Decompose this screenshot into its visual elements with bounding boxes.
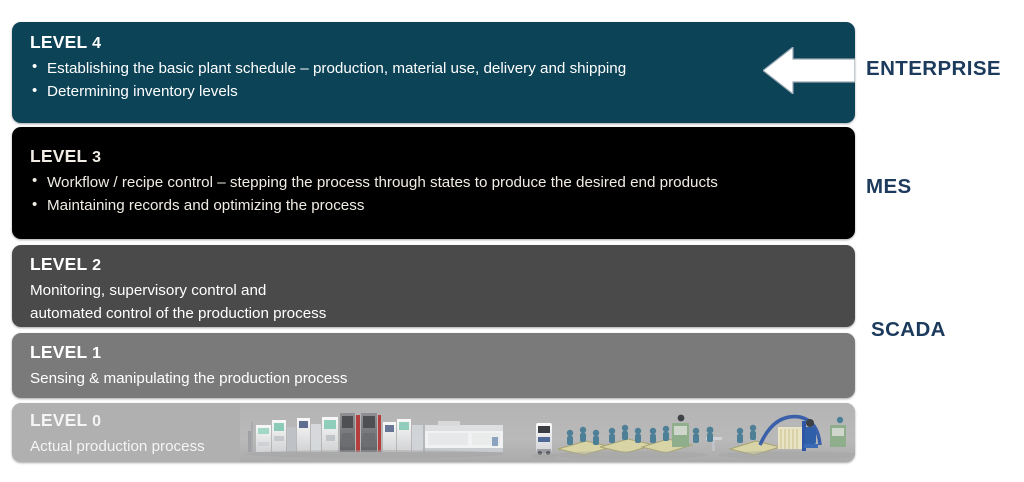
level-2-title-word: LEVEL <box>30 254 87 274</box>
level-4-title-number: 4 <box>92 35 101 52</box>
level-3-title: LEVEL 3 <box>30 147 855 167</box>
level-3-box[interactable]: LEVEL 3 Workflow / recipe control – step… <box>12 127 855 239</box>
level-4-title-word: LEVEL <box>30 32 87 52</box>
level-3-bullet-2: Maintaining records and optimizing the p… <box>30 194 855 217</box>
level-2-line-1: Monitoring, supervisory control and <box>30 279 855 302</box>
side-label-mes: MES <box>866 175 912 199</box>
level-0-title-word: LEVEL <box>30 410 87 430</box>
level-2-line-2: automated control of the production proc… <box>30 302 855 325</box>
level-1-title-number: 1 <box>92 345 101 362</box>
level-4-bullet-1: Establishing the basic plant schedule – … <box>30 57 855 80</box>
level-0-content: LEVEL 0 Actual production process <box>12 403 855 458</box>
level-2-title: LEVEL 2 <box>30 255 855 275</box>
level-4-title: LEVEL 4 <box>30 33 855 53</box>
level-4-bullet-2: Determining inventory levels <box>30 80 855 103</box>
side-label-scada: SCADA <box>871 318 946 342</box>
level-2-box[interactable]: LEVEL 2 Monitoring, supervisory control … <box>12 245 855 327</box>
level-3-title-word: LEVEL <box>30 146 87 166</box>
level-1-title-word: LEVEL <box>30 342 87 362</box>
level-0-title-number: 0 <box>92 413 101 430</box>
level-4-box[interactable]: LEVEL 4 Establishing the basic plant sch… <box>12 22 855 123</box>
side-label-enterprise: ENTERPRISE <box>866 57 1001 81</box>
level-4-bullet-list: Establishing the basic plant schedule – … <box>30 57 855 103</box>
left-arrow-icon <box>763 47 855 94</box>
level-0-box[interactable]: LEVEL 0 Actual production process <box>12 403 855 462</box>
level-1-box[interactable]: LEVEL 1 Sensing & manipulating the produ… <box>12 333 855 398</box>
level-2-content: LEVEL 2 Monitoring, supervisory control … <box>12 245 855 325</box>
level-0-line-1: Actual production process <box>30 435 855 458</box>
level-0-title: LEVEL 0 <box>30 411 855 431</box>
level-4-content: LEVEL 4 Establishing the basic plant sch… <box>12 22 855 103</box>
automation-pyramid-diagram: LEVEL 4 Establishing the basic plant sch… <box>0 0 1024 482</box>
level-1-line-1: Sensing & manipulating the production pr… <box>30 367 855 390</box>
level-3-title-number: 3 <box>92 149 101 166</box>
level-3-content: LEVEL 3 Workflow / recipe control – step… <box>12 127 855 217</box>
level-1-content: LEVEL 1 Sensing & manipulating the produ… <box>12 333 855 390</box>
level-1-title: LEVEL 1 <box>30 343 855 363</box>
level-2-title-number: 2 <box>92 257 101 274</box>
level-3-bullet-list: Workflow / recipe control – stepping the… <box>30 171 855 217</box>
level-3-bullet-1: Workflow / recipe control – stepping the… <box>30 171 855 194</box>
